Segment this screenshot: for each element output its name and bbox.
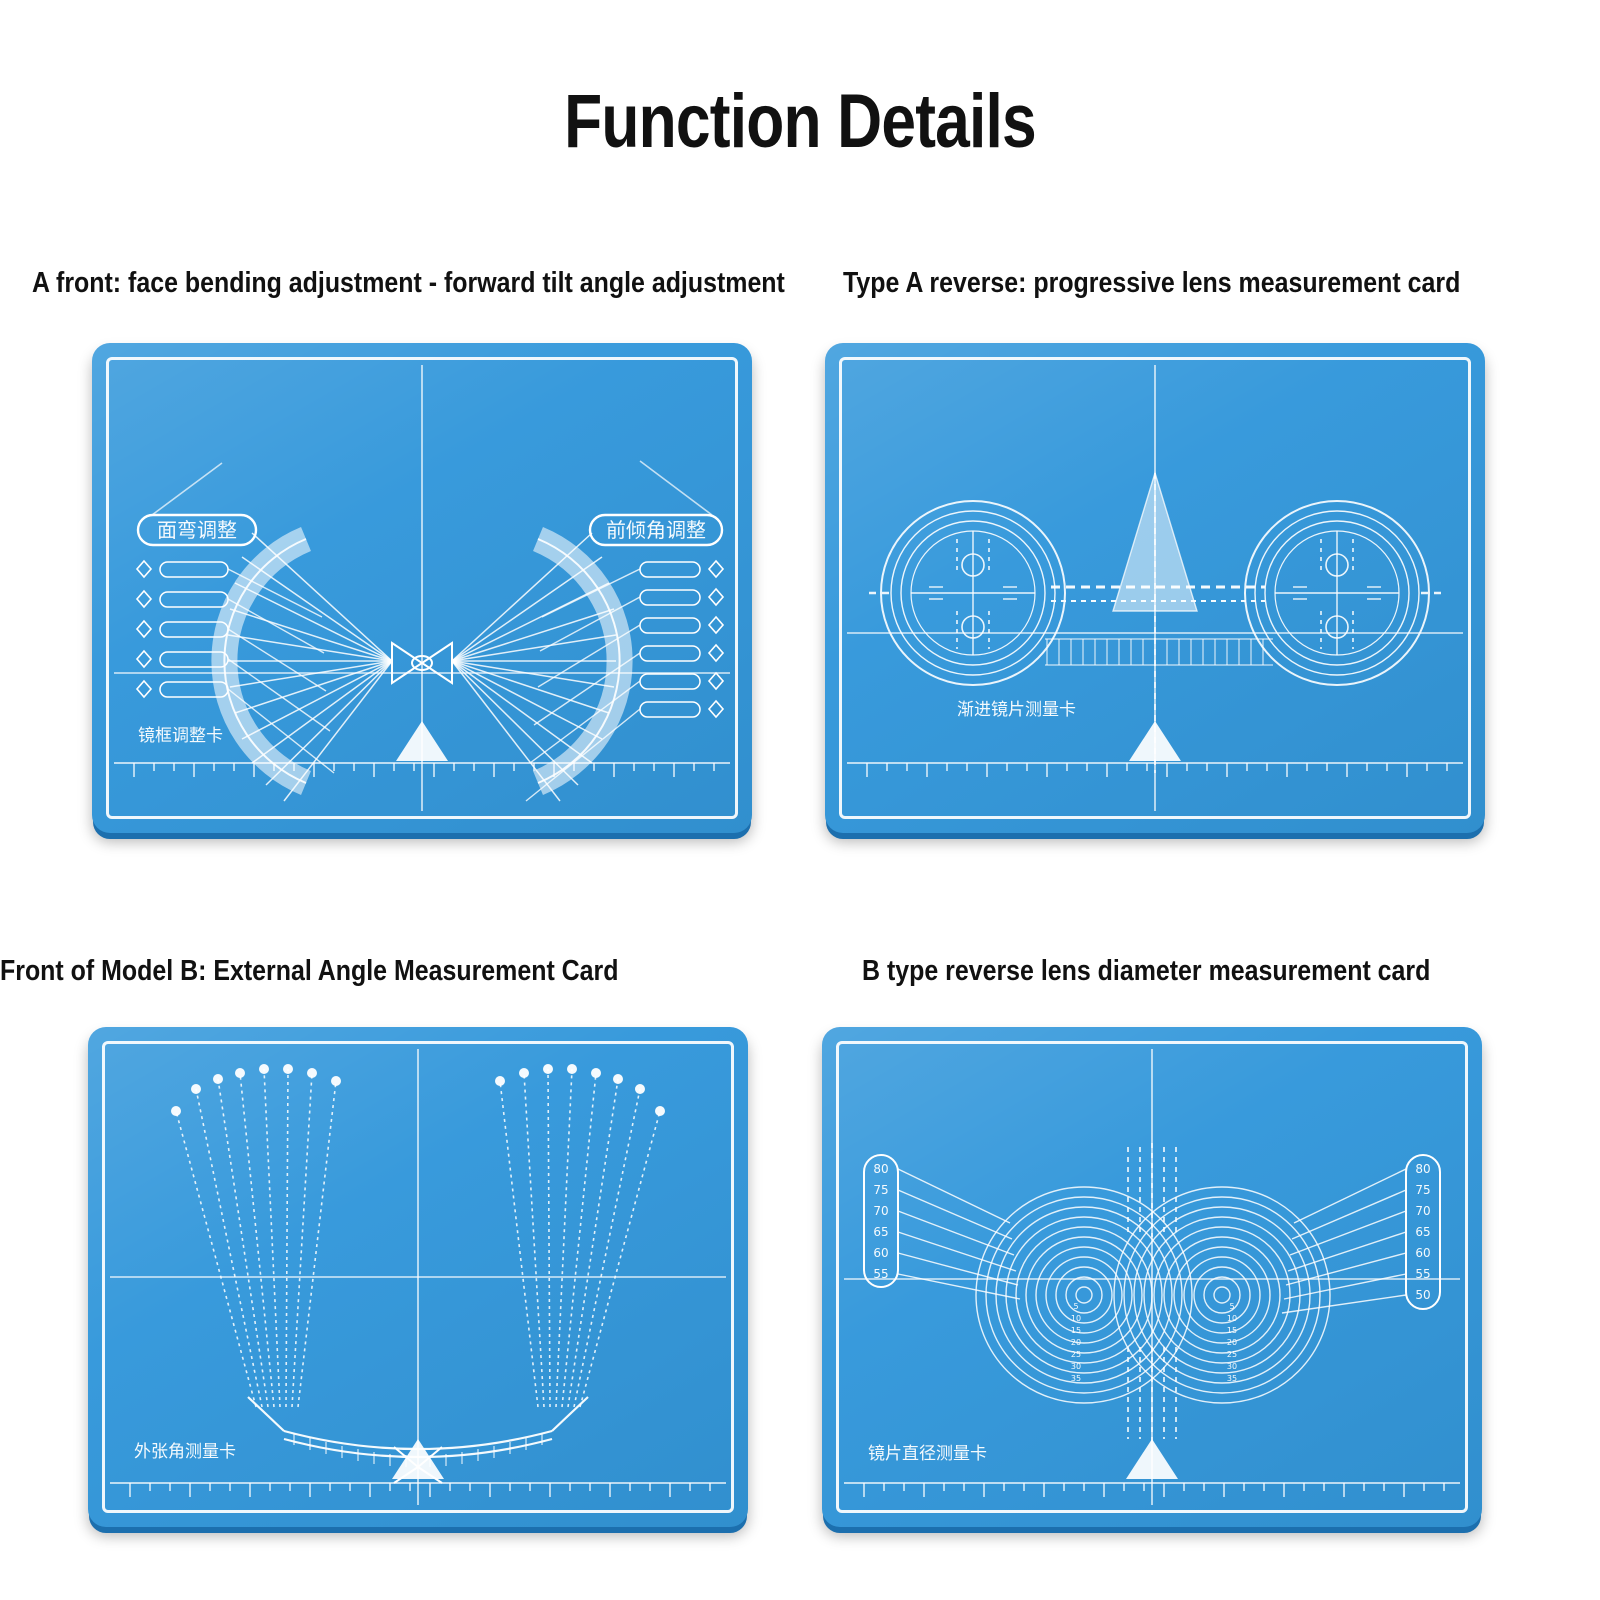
card-a-reverse-artwork: 渐进镜片测量卡 [825, 343, 1485, 833]
svg-text:15: 15 [1227, 1326, 1237, 1335]
svg-text:10: 10 [1227, 1314, 1237, 1323]
svg-text:30: 30 [1071, 1362, 1081, 1371]
svg-text:前倾角调整: 前倾角调整 [606, 518, 706, 542]
card-face-label: 渐进镜片测量卡 [957, 700, 1076, 720]
left-lens-target [881, 501, 1065, 685]
card-a-front[interactable]: 面弯调整 前倾角调整 [92, 343, 752, 833]
svg-text:70: 70 [1415, 1204, 1430, 1218]
card-cell-a-front: A front: face bending adjustment - forwa… [0, 245, 800, 935]
left-fan-heads [171, 1064, 341, 1116]
cards-grid: A front: face bending adjustment - forwa… [0, 245, 1600, 1585]
card-b-reverse[interactable]: 80 75 70 65 60 55 [822, 1027, 1482, 1527]
svg-text:75: 75 [1415, 1183, 1430, 1197]
card-a-front-artwork: 面弯调整 前倾角调整 [92, 343, 752, 833]
svg-text:面弯调整: 面弯调整 [157, 518, 237, 542]
card-face-label: 外张角测量卡 [134, 1442, 236, 1462]
diameter-scale-right: 80 75 70 65 60 55 50 [1282, 1155, 1440, 1313]
svg-text:20: 20 [1227, 1338, 1237, 1347]
card-b-reverse-artwork: 80 75 70 65 60 55 [822, 1027, 1482, 1527]
card-face-label: 镜片直径测量卡 [868, 1444, 987, 1464]
card-face-label: 镜框调整卡 [138, 726, 223, 746]
pill-face-bend: 面弯调整 [138, 515, 256, 545]
left-angle-fan [176, 1069, 336, 1407]
svg-text:65: 65 [873, 1225, 888, 1239]
svg-text:50: 50 [1415, 1288, 1430, 1302]
pointer-triangle [392, 1439, 444, 1479]
svg-text:35: 35 [1071, 1374, 1081, 1383]
caption-b-reverse: B type reverse lens diameter measurement… [862, 955, 1430, 988]
caption-a-reverse: Type A reverse: progressive lens measure… [843, 267, 1460, 300]
svg-text:35: 35 [1227, 1374, 1237, 1383]
card-b-front[interactable]: 外张角测量卡 [88, 1027, 748, 1527]
card-a-reverse[interactable]: 渐进镜片测量卡 [825, 343, 1485, 833]
card-cell-b-front: Front of Model B: External Angle Measure… [0, 935, 800, 1585]
card-cell-b-reverse: B type reverse lens diameter measurement… [800, 935, 1600, 1585]
caption-b-front: Front of Model B: External Angle Measure… [0, 955, 619, 988]
svg-text:25: 25 [1071, 1350, 1081, 1359]
svg-text:55: 55 [873, 1267, 888, 1281]
svg-text:70: 70 [873, 1204, 888, 1218]
svg-text:5: 5 [1229, 1302, 1234, 1311]
pointer-triangle [1129, 721, 1181, 761]
card-b-front-artwork: 外张角测量卡 [88, 1027, 748, 1527]
function-details-page: Function Details A front: face bending a… [0, 0, 1600, 1600]
svg-text:55: 55 [1415, 1267, 1430, 1281]
svg-text:5: 5 [1073, 1302, 1078, 1311]
svg-text:80: 80 [873, 1162, 888, 1176]
page-title: Function Details [144, 78, 1456, 165]
pill-forward-tilt: 前倾角调整 [590, 515, 722, 545]
svg-text:75: 75 [873, 1183, 888, 1197]
right-lens-target [1245, 501, 1429, 685]
card-cell-a-reverse: Type A reverse: progressive lens measure… [800, 245, 1600, 935]
svg-text:25: 25 [1227, 1350, 1237, 1359]
diameter-scale-left: 80 75 70 65 60 55 [864, 1155, 1020, 1299]
svg-text:30: 30 [1227, 1362, 1237, 1371]
svg-text:10: 10 [1071, 1314, 1081, 1323]
svg-text:20: 20 [1071, 1338, 1081, 1347]
svg-text:15: 15 [1071, 1326, 1081, 1335]
pointer-triangle [1126, 1439, 1178, 1479]
caption-a-front: A front: face bending adjustment - forwa… [32, 267, 785, 300]
svg-text:60: 60 [873, 1246, 888, 1260]
tick-field [1045, 639, 1273, 665]
svg-text:65: 65 [1415, 1225, 1430, 1239]
right-fan-heads [495, 1064, 665, 1116]
right-angle-fan [500, 1069, 660, 1407]
pointer-triangle [396, 721, 448, 761]
svg-text:80: 80 [1415, 1162, 1430, 1176]
svg-text:60: 60 [1415, 1246, 1430, 1260]
